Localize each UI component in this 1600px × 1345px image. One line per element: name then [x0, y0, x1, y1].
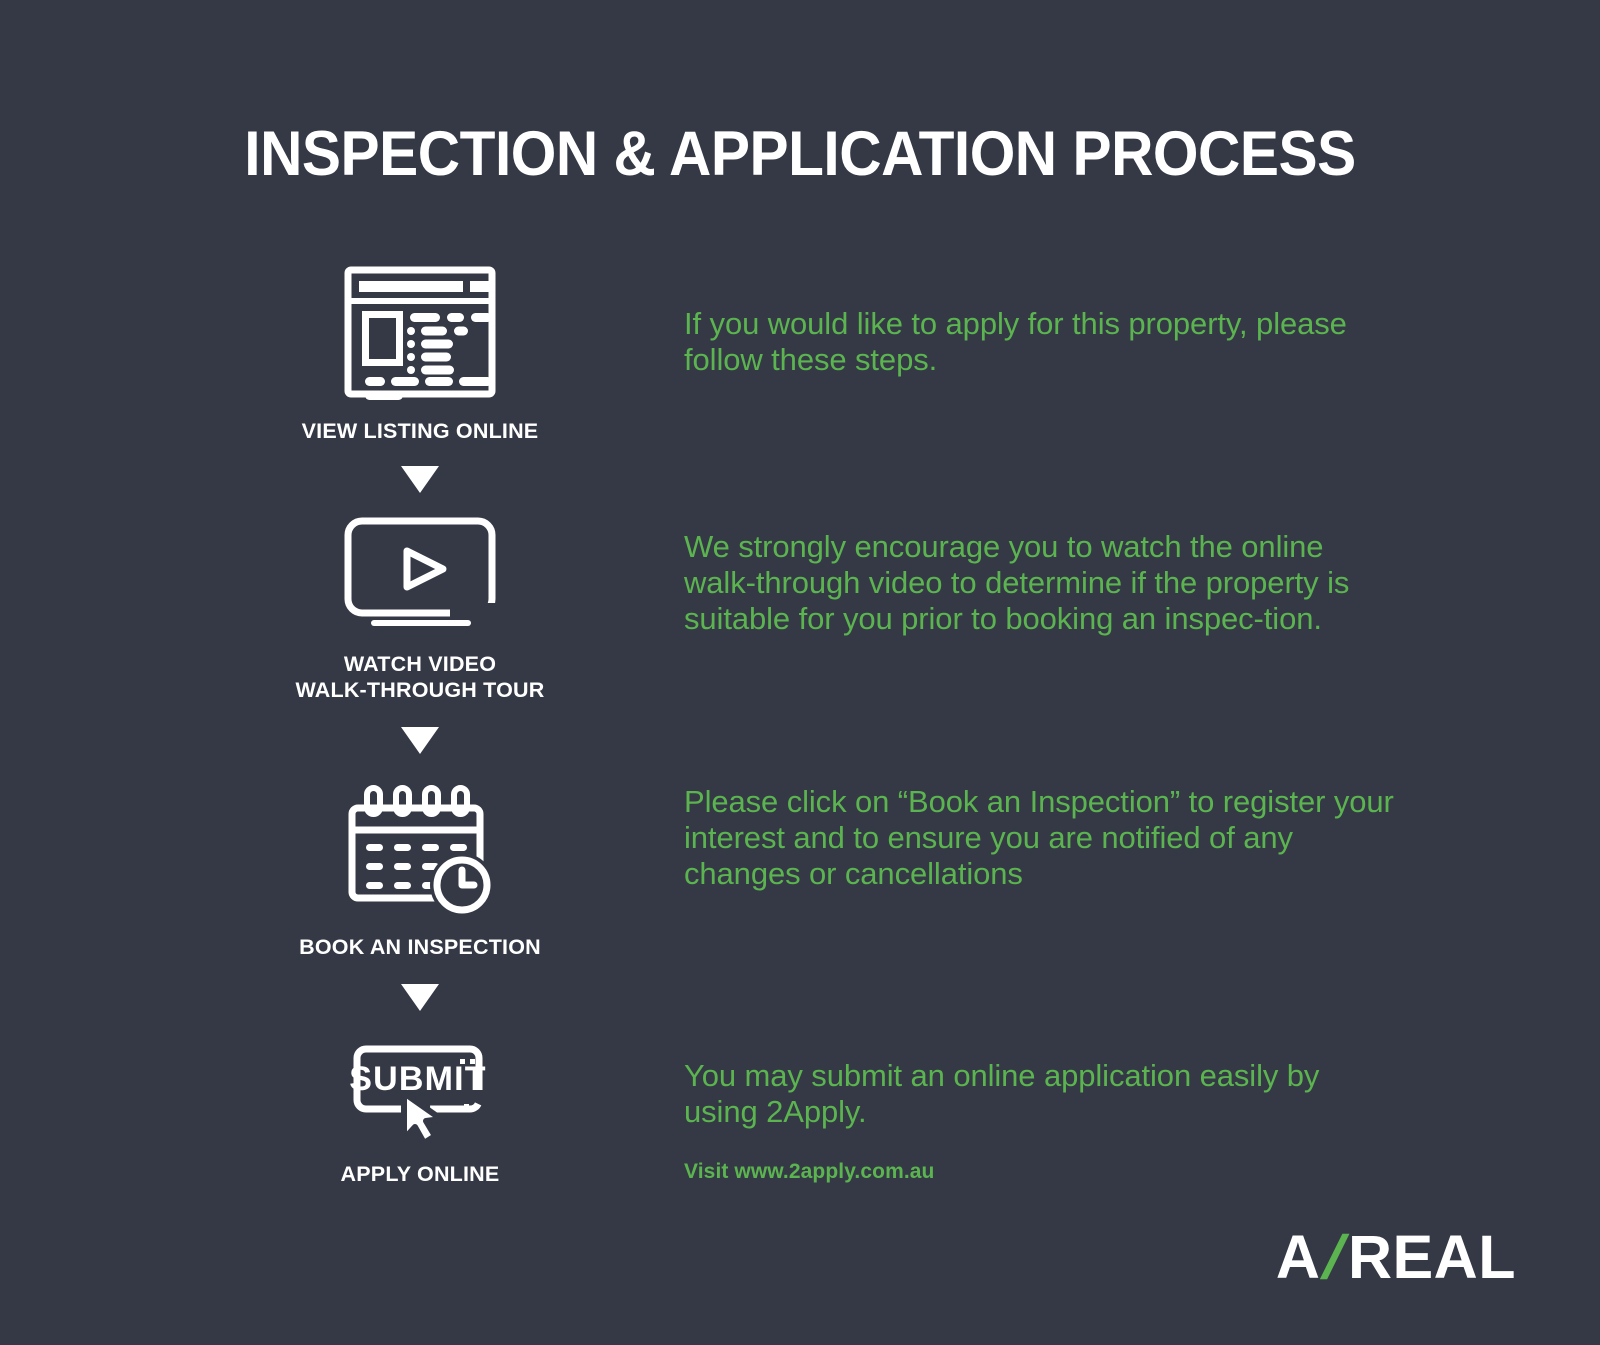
step-label-apply-online: APPLY ONLINE [255, 1161, 585, 1187]
svg-text:SUBMIT: SUBMIT [349, 1060, 487, 1098]
step-view-listing: VIEW LISTING ONLINE [255, 262, 585, 444]
process-flow: VIEW LISTING ONLINE WATCH VIDEO WALK-THR… [255, 262, 585, 1187]
copy-watch-video: We strongly encourage you to watch the o… [684, 529, 1394, 637]
step-book-inspection: BOOK AN INSPECTION [255, 778, 585, 960]
flow-arrow-1 [255, 466, 585, 493]
step-label-watch-video: WATCH VIDEO WALK-THROUGH TOUR [255, 651, 585, 703]
submit-button-cursor-icon: SUBMIT [255, 1035, 585, 1145]
step-watch-video: WATCH VIDEO WALK-THROUGH TOUR [255, 515, 585, 703]
copy-apply-online: You may submit an online application eas… [684, 1058, 1394, 1130]
logo-a: A [1276, 1222, 1321, 1292]
areal-logo: A / REAL [1276, 1222, 1516, 1292]
step-label-view-listing: VIEW LISTING ONLINE [255, 418, 585, 444]
copy-view-listing: If you would like to apply for this prop… [684, 306, 1394, 378]
page-title: INSPECTION & APPLICATION PROCESS [56, 118, 1544, 190]
copy-book-inspection: Please click on “Book an Inspection” to … [684, 784, 1394, 892]
logo-real: REAL [1348, 1222, 1516, 1292]
browser-listing-icon [255, 262, 585, 402]
video-player-icon [255, 515, 585, 635]
visit-link[interactable]: Visit www.2apply.com.au [684, 1160, 935, 1184]
flow-arrow-2 [255, 727, 585, 754]
calendar-clock-icon [255, 778, 585, 918]
infographic-page: INSPECTION & APPLICATION PROCESS [0, 0, 1600, 1345]
step-apply-online: SUBMIT APPLY ONLINE [255, 1035, 585, 1187]
flow-arrow-3 [255, 984, 585, 1011]
step-label-book-inspection: BOOK AN INSPECTION [255, 934, 585, 960]
